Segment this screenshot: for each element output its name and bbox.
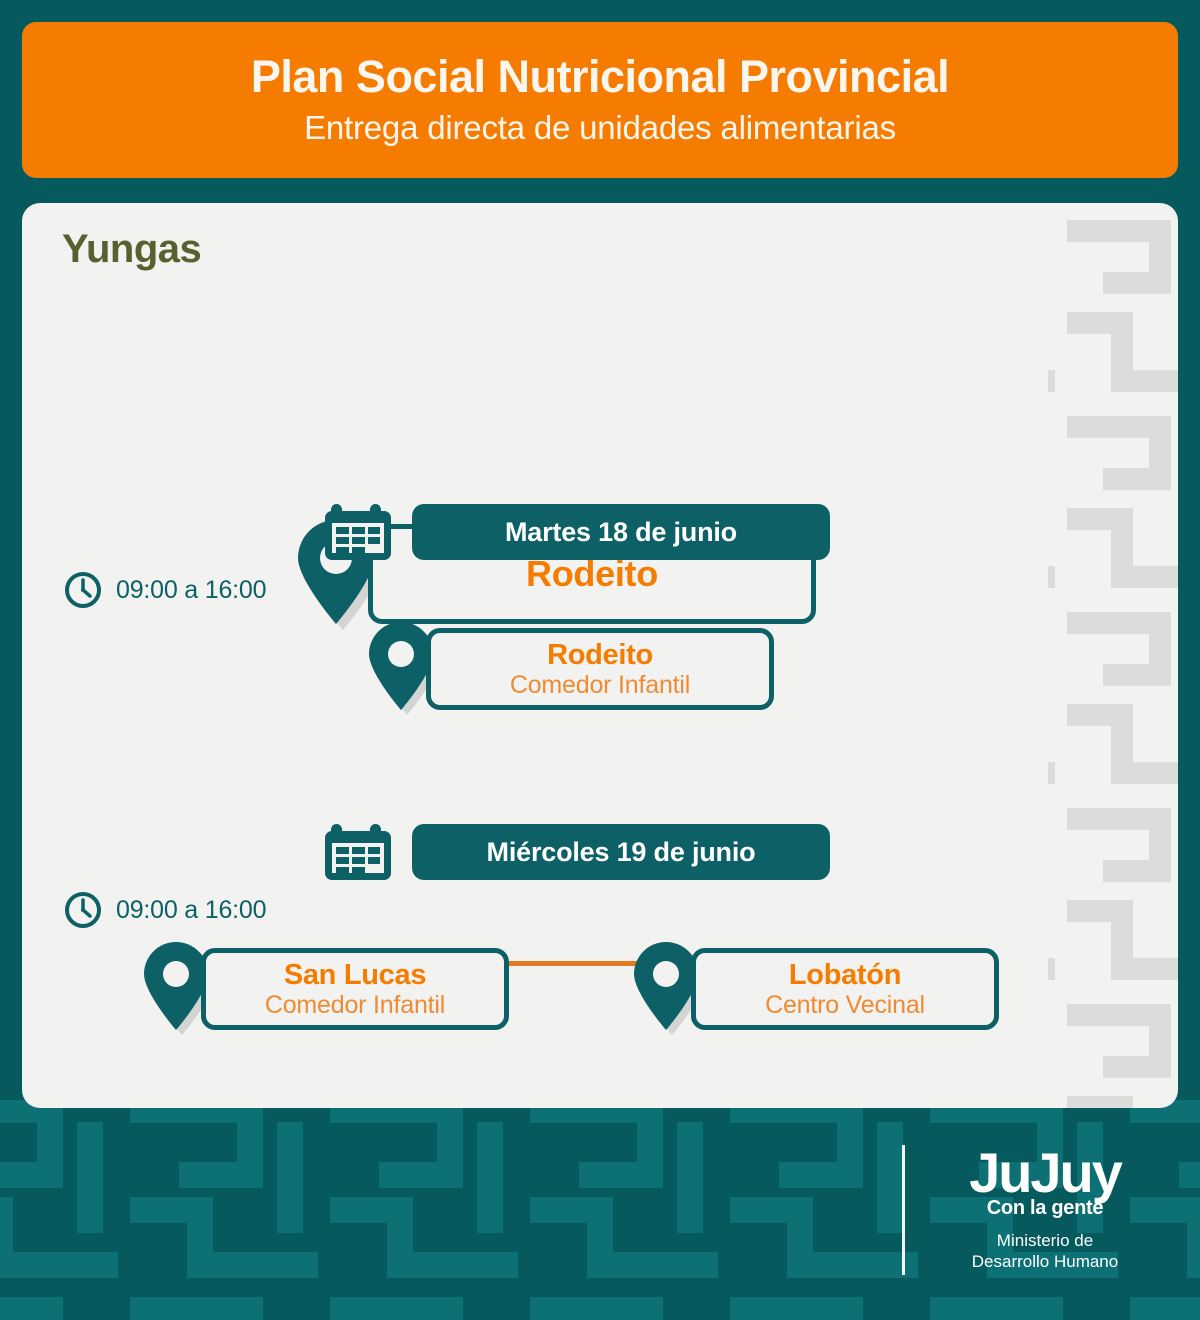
venue-box[interactable]: Lobatón Centro Vecinal [691, 948, 999, 1030]
time-label: 09:00 a 16:00 [116, 896, 266, 925]
date-label: Martes 18 de junio [505, 517, 737, 548]
time-row-1: 09:00 a 16:00 [64, 571, 266, 609]
venue-box[interactable]: San Lucas Comedor Infantil [201, 948, 509, 1030]
page-subtitle: Entrega directa de unidades alimentarias [304, 109, 896, 147]
venue-row-2-1: Lobatón Centro Vecinal [627, 941, 999, 1037]
schedule-card: Yungas Rodeito [22, 203, 1178, 1108]
clock-icon [64, 891, 102, 929]
date-label: Miércoles 19 de junio [487, 837, 756, 868]
date-row-2: Miércoles 19 de junio [322, 821, 830, 883]
region-title: Yungas [62, 227, 201, 272]
logo-divider-rule [902, 1145, 905, 1275]
venue-name: San Lucas [284, 959, 426, 991]
ministry-name: Ministerio de Desarrollo Humano [972, 1230, 1118, 1273]
time-row-2: 09:00 a 16:00 [64, 891, 266, 929]
header-banner: Plan Social Nutricional Provincial Entre… [22, 22, 1178, 178]
jujuy-wordmark: JuJuy [969, 1145, 1121, 1201]
venue-subtitle: Comedor Infantil [510, 671, 690, 699]
venue-subtitle: Centro Vecinal [765, 991, 925, 1019]
ministry-line-1: Ministerio de [997, 1231, 1093, 1250]
date-pill-1[interactable]: Martes 18 de junio [412, 504, 830, 560]
venue-row-1-0: Rodeito Comedor Infantil [362, 621, 774, 717]
calendar-icon [322, 821, 394, 883]
calendar-icon [322, 501, 394, 563]
jujuy-logo: JuJuy Con la gente Ministerio de Desarro… [930, 1145, 1160, 1273]
venue-name: Lobatón [789, 959, 901, 991]
venue-subtitle: Comedor Infantil [265, 991, 445, 1019]
venue-box[interactable]: Rodeito Comedor Infantil [426, 628, 774, 710]
time-label: 09:00 a 16:00 [116, 576, 266, 605]
clock-icon [64, 571, 102, 609]
ministry-line-2: Desarrollo Humano [972, 1252, 1118, 1271]
jujuy-tagline: Con la gente [987, 1197, 1103, 1220]
venue-row-2-0: San Lucas Comedor Infantil [137, 941, 509, 1037]
date-row-1: Martes 18 de junio [322, 501, 830, 563]
card-edge-pattern [1048, 203, 1178, 1108]
venue-name: Rodeito [547, 639, 653, 671]
date-pill-2[interactable]: Miércoles 19 de junio [412, 824, 830, 880]
page-title: Plan Social Nutricional Provincial [251, 53, 949, 100]
